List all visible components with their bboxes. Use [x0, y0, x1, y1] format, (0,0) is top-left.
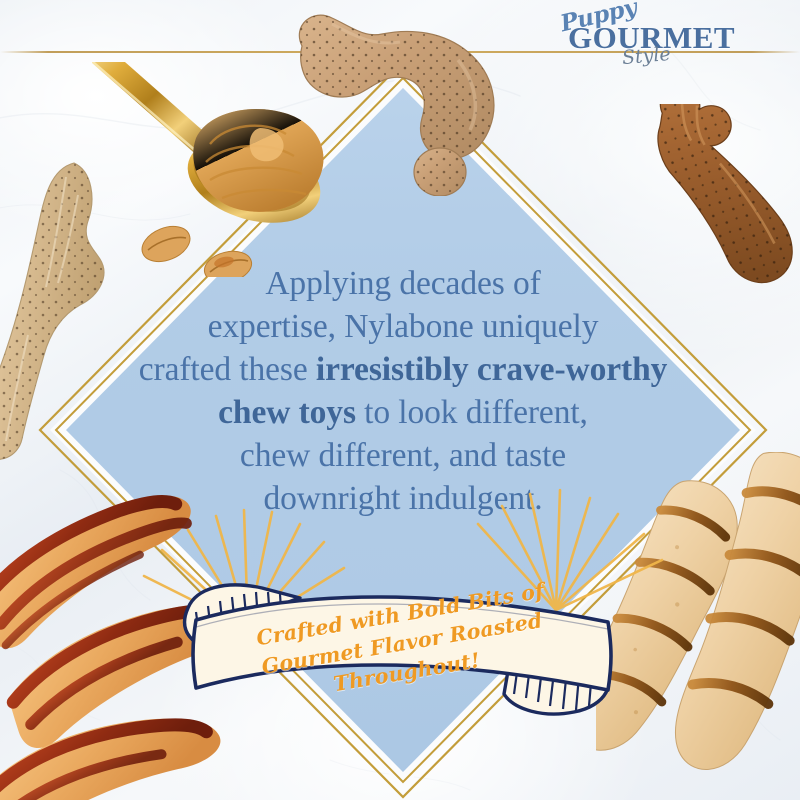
brand-logo[interactable]: Puppy GOURMET Style: [554, 2, 734, 70]
logo-word-style: Style: [621, 45, 671, 68]
ad-canvas: Applying decades of expertise, Nylabone …: [0, 0, 800, 800]
ribbon-banner: Crafted with Bold Bits of Gourmet Flavor…: [0, 0, 800, 800]
